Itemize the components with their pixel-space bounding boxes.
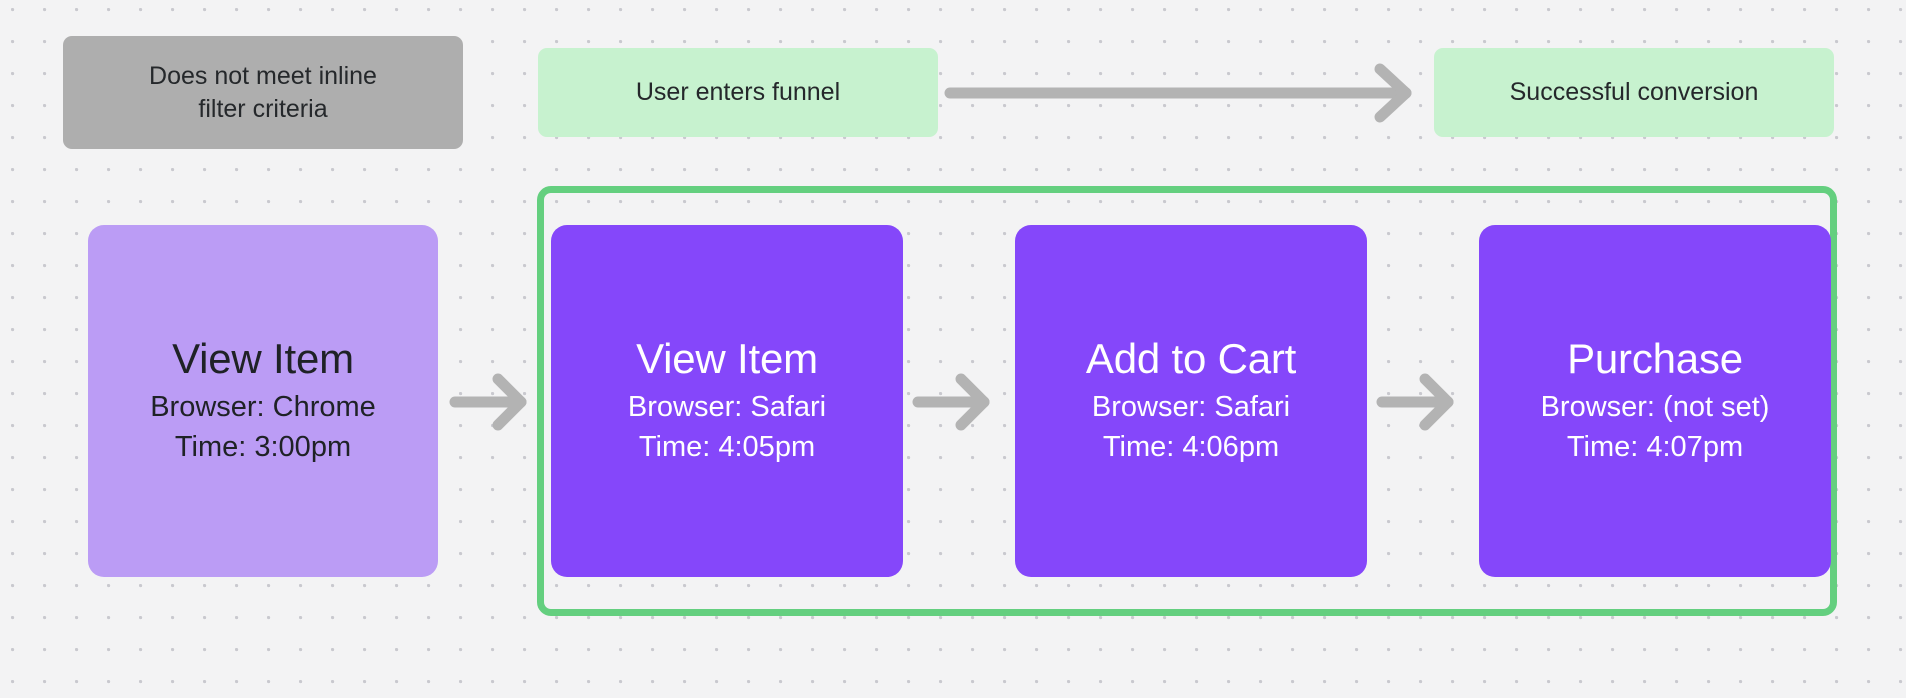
event-card-browser: Browser: (not set) xyxy=(1541,387,1770,427)
event-card-view-item-chrome[interactable]: View Item Browser: Chrome Time: 3:00pm xyxy=(88,225,438,577)
legend-flow-arrow-icon xyxy=(944,62,1428,124)
legend-user-enters-funnel: User enters funnel xyxy=(538,48,938,137)
event-card-time: Time: 4:07pm xyxy=(1567,427,1743,467)
legend-successful-conversion: Successful conversion xyxy=(1434,48,1834,137)
legend-enters-funnel-label: User enters funnel xyxy=(636,76,840,109)
event-card-add-to-cart[interactable]: Add to Cart Browser: Safari Time: 4:06pm xyxy=(1015,225,1367,577)
flow-arrow-icon-2 xyxy=(1376,370,1462,434)
legend-excluded-label-line1: Does not meet inline xyxy=(149,62,377,90)
legend-excluded-criteria: Does not meet inlinefilter criteria xyxy=(63,36,463,149)
event-card-browser: Browser: Safari xyxy=(1092,387,1290,427)
event-card-title: Purchase xyxy=(1567,335,1743,383)
event-card-time: Time: 4:05pm xyxy=(639,427,815,467)
event-card-title: View Item xyxy=(636,335,818,383)
legend-excluded-label-line2: filter criteria xyxy=(198,95,327,123)
event-card-view-item-safari[interactable]: View Item Browser: Safari Time: 4:05pm xyxy=(551,225,903,577)
legend-excluded-label: Does not meet inlinefilter criteria xyxy=(149,60,377,126)
event-card-time: Time: 3:00pm xyxy=(175,427,351,467)
event-card-time: Time: 4:06pm xyxy=(1103,427,1279,467)
legend-successful-conversion-label: Successful conversion xyxy=(1510,76,1759,109)
flow-arrow-icon-1 xyxy=(912,370,998,434)
event-card-title: Add to Cart xyxy=(1086,335,1296,383)
flow-arrow-icon-0 xyxy=(449,370,535,434)
event-card-purchase[interactable]: Purchase Browser: (not set) Time: 4:07pm xyxy=(1479,225,1831,577)
event-card-browser: Browser: Safari xyxy=(628,387,826,427)
diagram-canvas: Does not meet inlinefilter criteria User… xyxy=(0,0,1906,698)
event-card-title: View Item xyxy=(172,335,354,383)
event-card-browser: Browser: Chrome xyxy=(150,387,376,427)
